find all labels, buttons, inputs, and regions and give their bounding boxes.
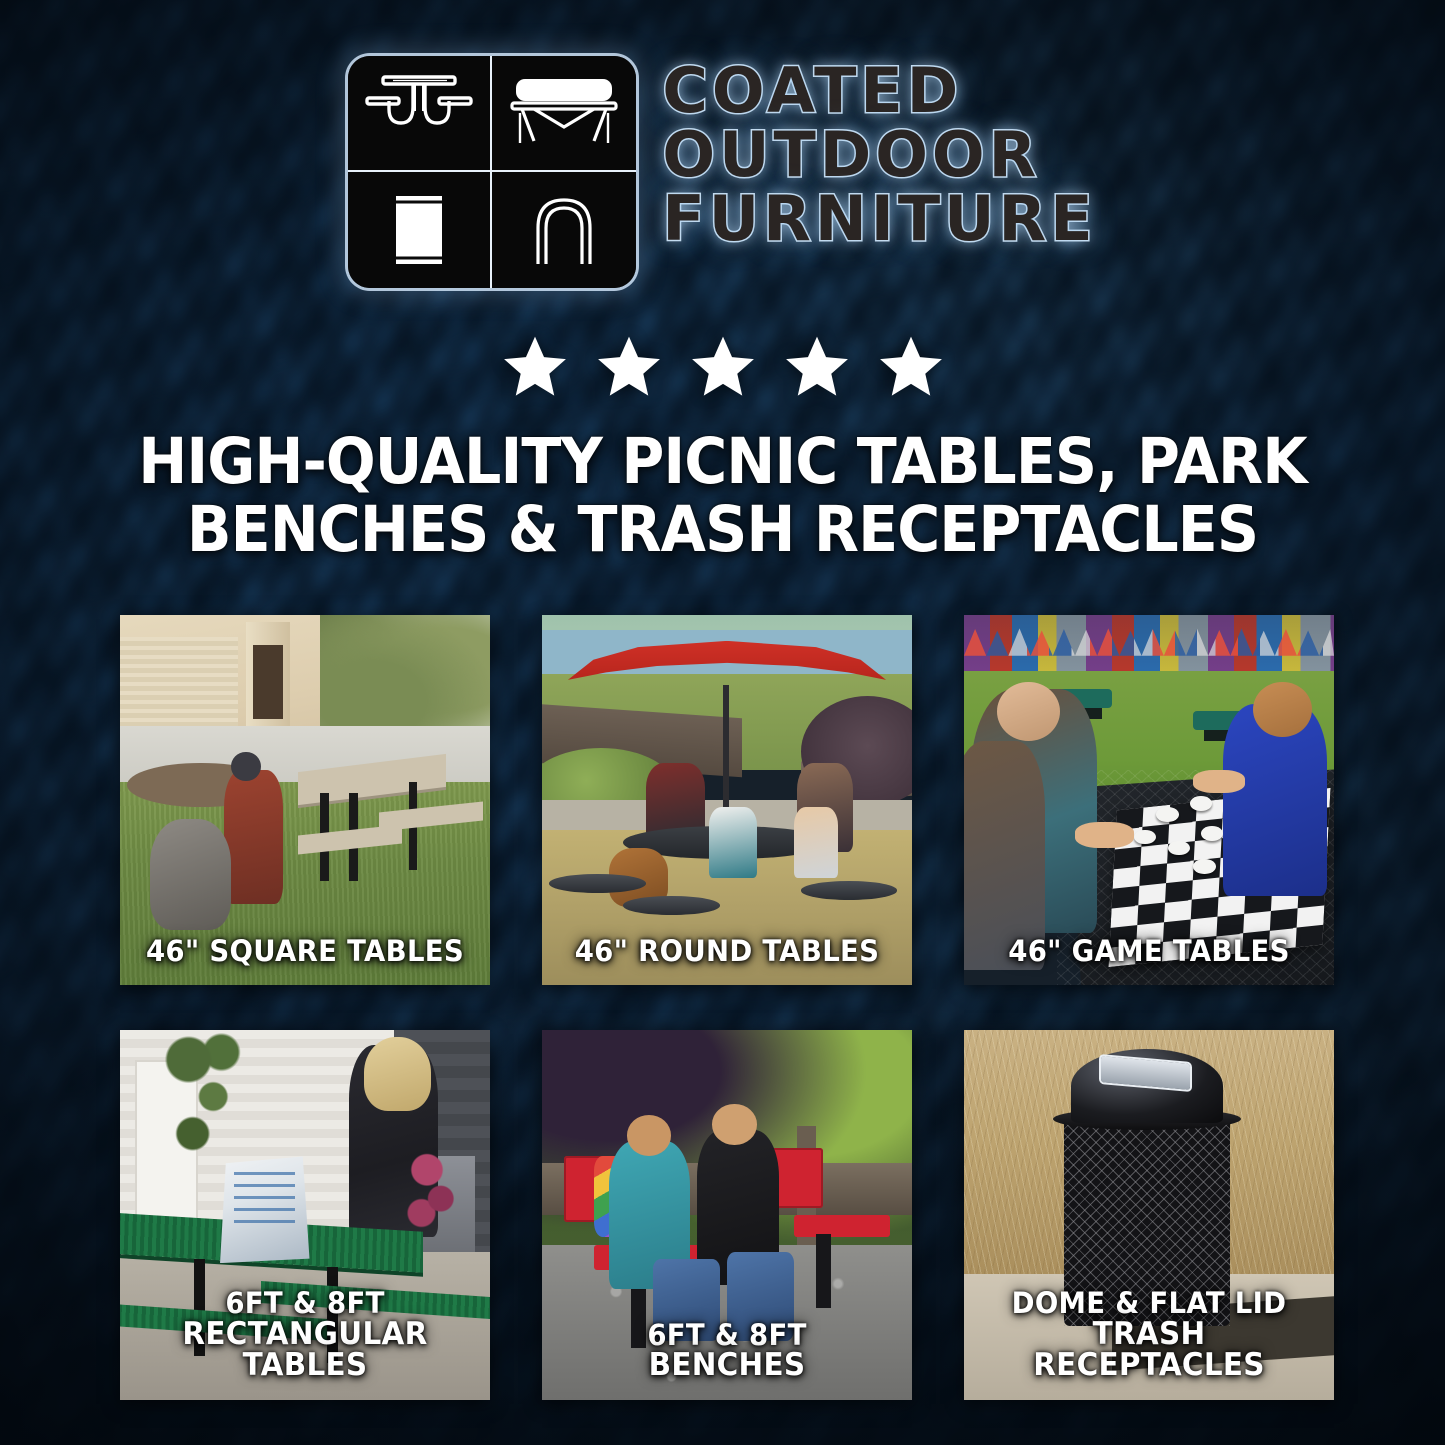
product-caption: 6FT & 8FT BENCHES [551,1321,903,1382]
bike-rack-icon [492,172,636,288]
product-caption: DOME & FLAT LID TRASH RECEPTACLES [973,1289,1325,1382]
logo-mark [348,56,636,288]
product-photo-game-tables [964,615,1334,985]
caption-line-1: 46" SQUARE TABLES [146,934,464,968]
product-photo-square-tables [120,615,490,985]
product-tile-round-tables[interactable]: 46" ROUND TABLES [542,615,912,985]
product-tile-benches[interactable]: 6FT & 8FT BENCHES [542,1030,912,1400]
caption-line-2: TRASH RECEPTACLES [973,1319,1325,1382]
brand-line-2: OUTDOOR [662,124,1096,186]
brand-line-1: COATED [662,60,1096,122]
product-caption: 46" GAME TABLES [973,937,1325,967]
product-tile-square-tables[interactable]: 46" SQUARE TABLES [120,615,490,985]
headline-line-2: BENCHES & TRASH RECEPTACLES [106,496,1338,564]
product-tile-game-tables[interactable]: 46" GAME TABLES [964,615,1334,985]
star-icon [687,332,759,402]
star-rating [0,332,1445,402]
brand-line-3: FURNITURE [662,188,1096,250]
brand-wordmark: COATED OUTDOOR FURNITURE [662,56,1096,250]
caption-line-1: DOME & FLAT LID [1012,1286,1287,1320]
product-photo-round-tables [542,615,912,985]
caption-line-1: 46" GAME TABLES [1008,934,1290,968]
product-tile-rectangular-tables[interactable]: 6FT & 8FT RECTANGULAR TABLES [120,1030,490,1400]
star-icon [593,332,665,402]
promotional-poster: COATED OUTDOOR FURNITURE HIGH-QUALITY PI… [0,0,1445,1445]
caption-line-1: 46" ROUND TABLES [575,934,880,968]
headline: HIGH-QUALITY PICNIC TABLES, PARK BENCHES… [60,428,1385,564]
bench-icon [492,56,636,172]
product-caption: 6FT & 8FT RECTANGULAR TABLES [129,1289,481,1382]
caption-line-2: RECTANGULAR TABLES [129,1319,481,1382]
brand-logo-row: COATED OUTDOOR FURNITURE [0,56,1445,288]
trash-receptacle-icon [348,172,492,288]
caption-line-2: BENCHES [551,1350,903,1382]
product-tile-trash-receptacles[interactable]: DOME & FLAT LID TRASH RECEPTACLES [964,1030,1334,1400]
caption-line-1: 6FT & 8FT [225,1286,384,1320]
product-caption: 46" ROUND TABLES [551,937,903,967]
star-icon [781,332,853,402]
product-caption: 46" SQUARE TABLES [129,937,481,967]
caption-line-1: 6FT & 8FT [647,1318,806,1352]
headline-line-1: HIGH-QUALITY PICNIC TABLES, PARK [106,428,1338,496]
star-icon [875,332,947,402]
star-icon [499,332,571,402]
square-picnic-table-icon [348,56,492,172]
product-grid: 46" SQUARE TABLES [120,615,1326,1400]
